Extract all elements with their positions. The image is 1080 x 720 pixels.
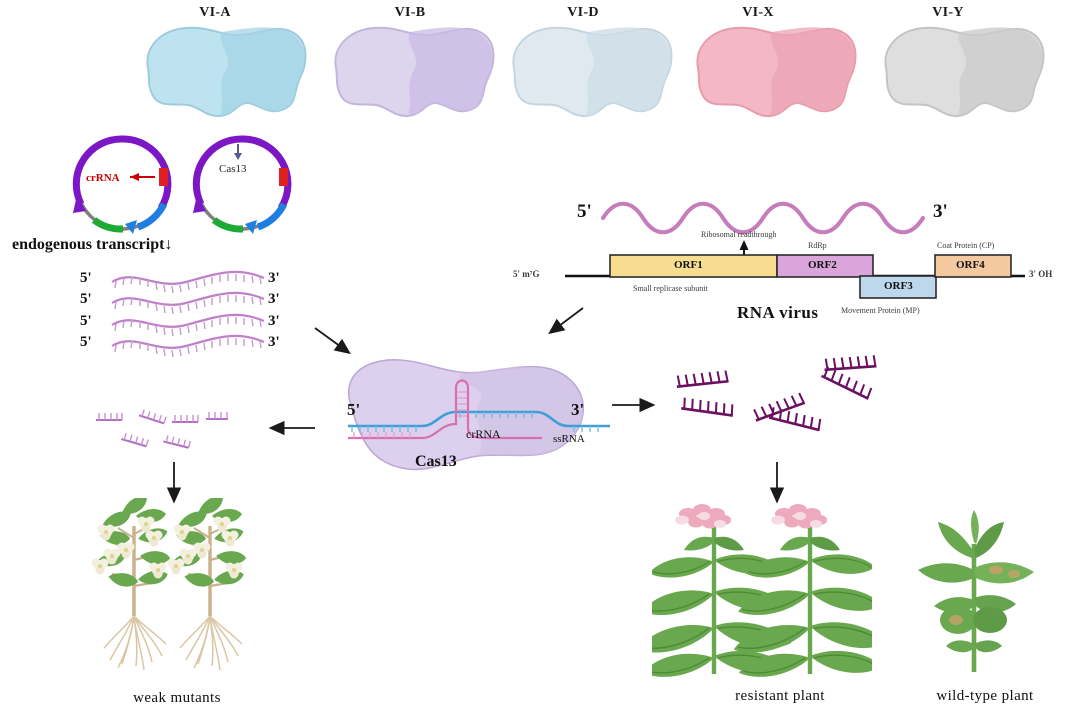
- label-weak-mutants: weak mutants: [112, 690, 242, 707]
- wild-type-plant-illustration: [900, 508, 1050, 678]
- lesion-spot-3: [949, 615, 963, 625]
- label-resistant-plant: resistant plant: [700, 688, 860, 705]
- arrow-transcripts-to-cas13: [315, 328, 348, 352]
- weak-mutants-illustration: [92, 498, 282, 678]
- wild-type-plant-body: [918, 510, 1034, 672]
- label-wild-type-plant: wild-type plant: [905, 688, 1065, 705]
- lesion-spot-2: [1008, 570, 1020, 578]
- arrow-virus-to-cas13: [551, 308, 583, 332]
- resistant-plant-illustration: [652, 498, 872, 678]
- lesion-spot-1: [989, 566, 1003, 575]
